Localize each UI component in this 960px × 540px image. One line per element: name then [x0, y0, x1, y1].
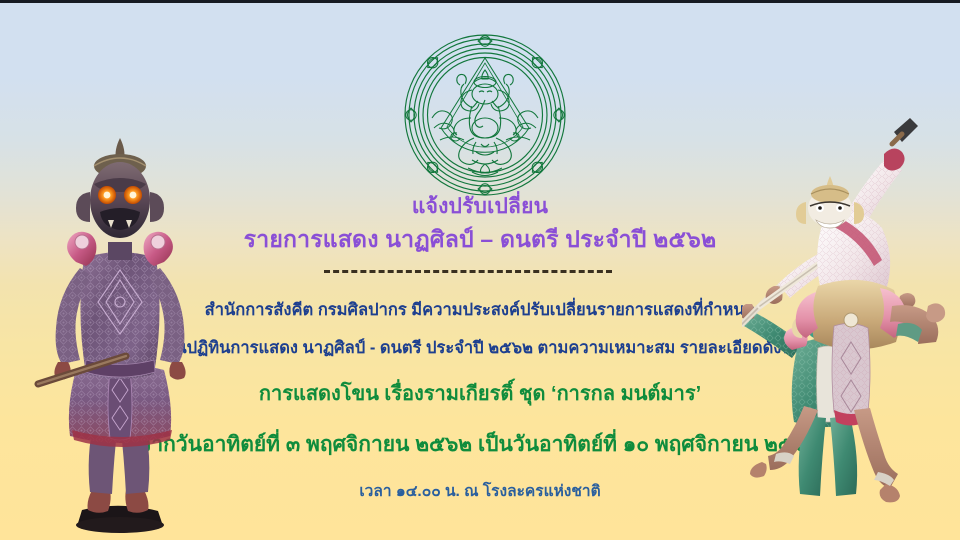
- khon-demon-figure: [14, 138, 224, 540]
- demon-mask: [76, 138, 164, 238]
- dashed-divider: [324, 270, 612, 273]
- poster-canvas: แจ้งปรับเปลี่ยน รายการแสดง นาฏศิลป์ – ดน…: [0, 0, 960, 540]
- khon-duo-figure: [742, 110, 960, 540]
- ganesha-seal-icon: [402, 32, 568, 198]
- top-edge-band: [0, 0, 960, 3]
